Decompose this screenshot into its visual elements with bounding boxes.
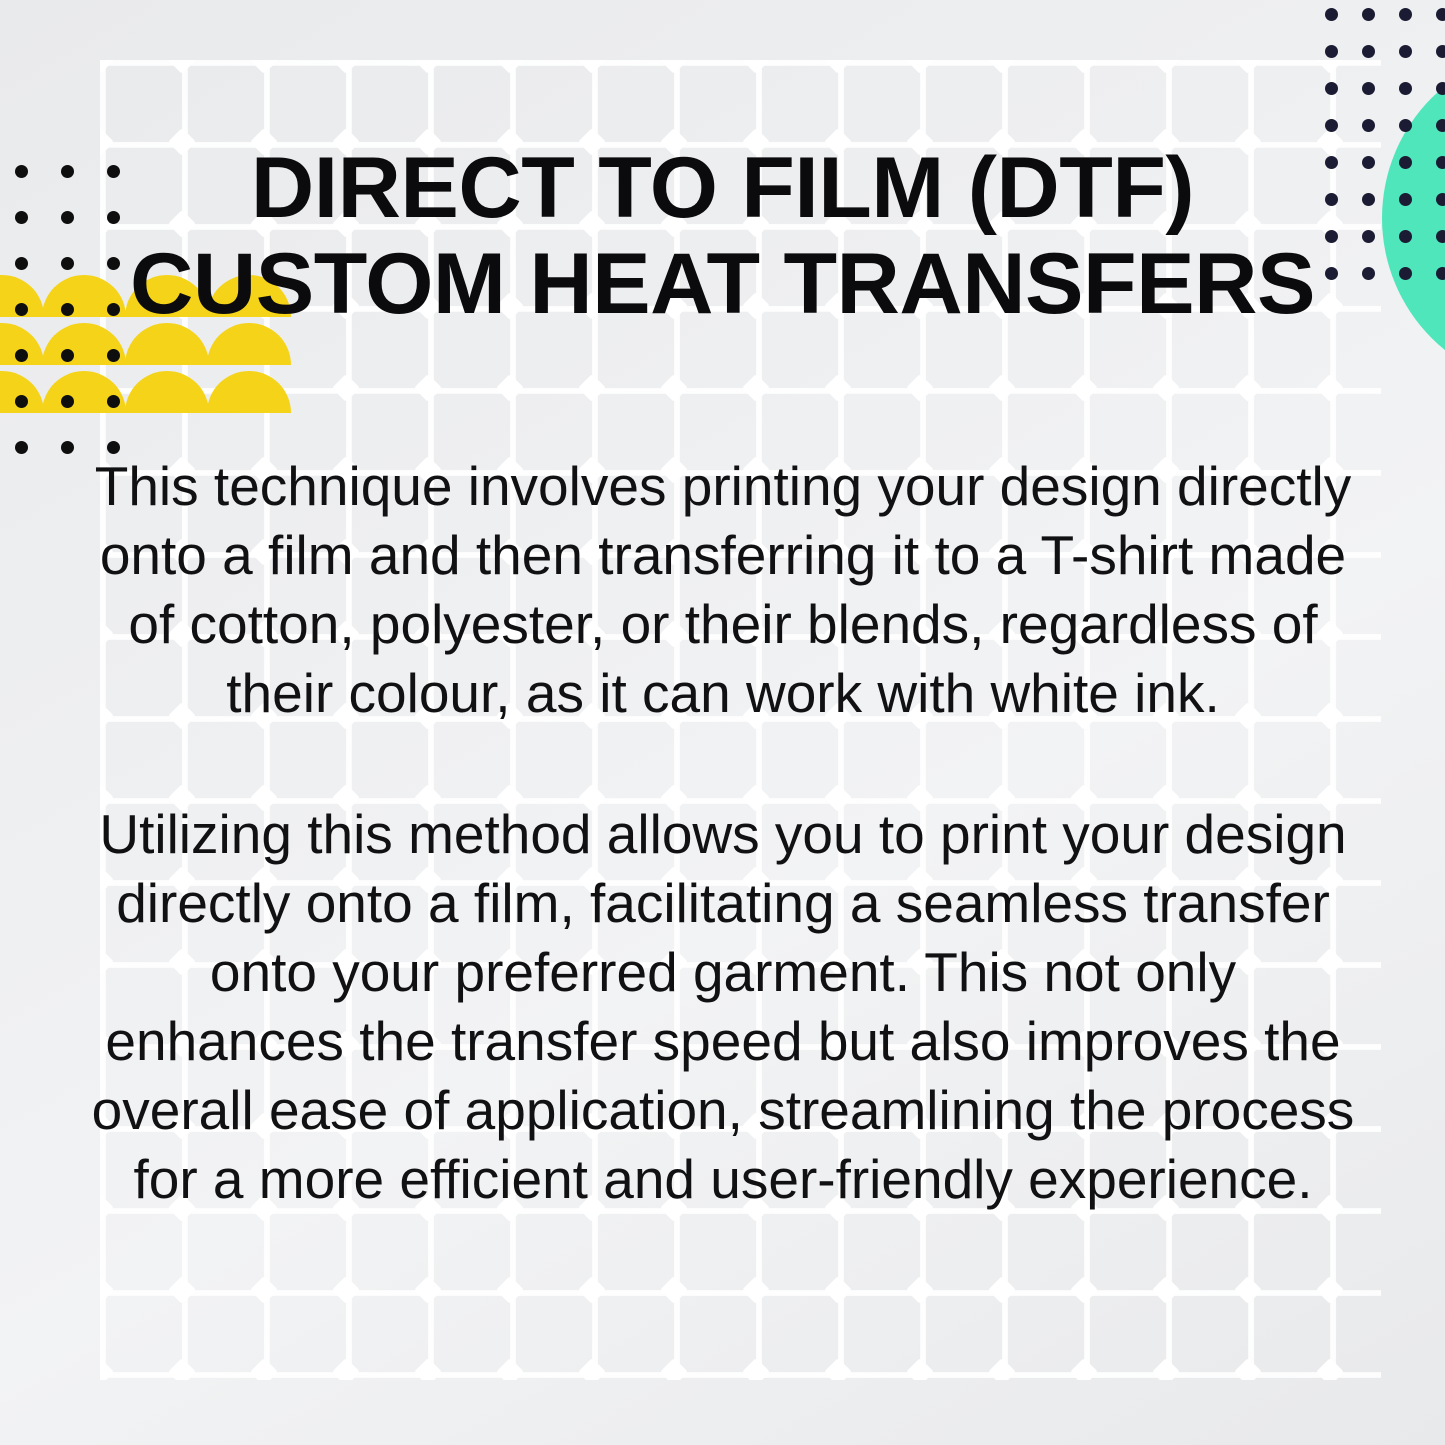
paragraph-1: This technique involves printing your de… — [88, 452, 1358, 728]
title-line-1: DIRECT TO FILM (DTF) — [108, 140, 1337, 236]
poster-canvas: DIRECT TO FILM (DTF) CUSTOM HEAT TRANSFE… — [0, 0, 1445, 1445]
content-area: DIRECT TO FILM (DTF) CUSTOM HEAT TRANSFE… — [0, 0, 1445, 1445]
body-copy: This technique involves printing your de… — [88, 452, 1358, 1214]
paragraph-2: Utilizing this method allows you to prin… — [88, 800, 1358, 1214]
page-title: DIRECT TO FILM (DTF) CUSTOM HEAT TRANSFE… — [120, 140, 1325, 332]
title-line-2: CUSTOM HEAT TRANSFERS — [108, 236, 1337, 332]
